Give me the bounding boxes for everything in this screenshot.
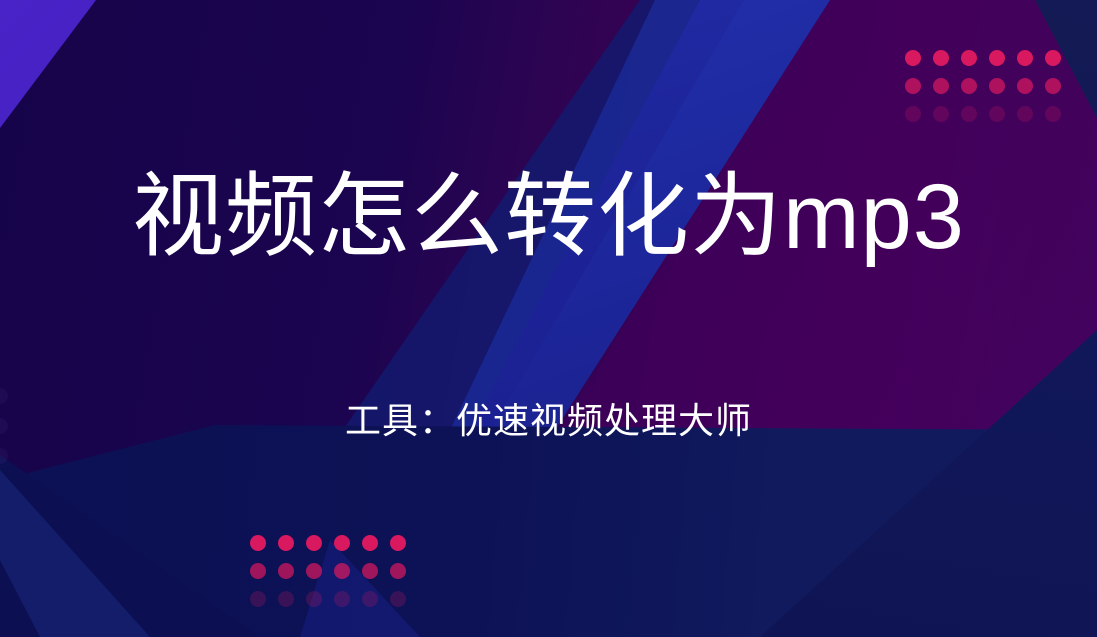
dot bbox=[1017, 106, 1033, 122]
dot bbox=[390, 535, 406, 551]
dot bbox=[306, 563, 322, 579]
dot bbox=[306, 591, 322, 607]
slide-subtitle: 工具：优速视频处理大师 bbox=[0, 398, 1097, 445]
dot bbox=[1017, 50, 1033, 66]
dot bbox=[1045, 78, 1061, 94]
dot bbox=[905, 78, 921, 94]
dot bbox=[1017, 78, 1033, 94]
dot bbox=[362, 535, 378, 551]
dot bbox=[933, 78, 949, 94]
dot-grid-top-right bbox=[905, 50, 1061, 122]
dot bbox=[961, 106, 977, 122]
slide-title: 视频怎么转化为mp3 bbox=[0, 168, 1097, 267]
dot bbox=[961, 50, 977, 66]
dot bbox=[0, 448, 8, 464]
dot bbox=[278, 563, 294, 579]
dot-grid-bottom-left bbox=[250, 535, 406, 607]
dot bbox=[390, 563, 406, 579]
dot bbox=[390, 591, 406, 607]
presentation-slide: 视频怎么转化为mp3 工具：优速视频处理大师 bbox=[0, 0, 1097, 637]
dot bbox=[933, 106, 949, 122]
dot bbox=[1045, 106, 1061, 122]
dot bbox=[989, 50, 1005, 66]
dot bbox=[989, 106, 1005, 122]
dot bbox=[278, 535, 294, 551]
dot bbox=[933, 50, 949, 66]
dot bbox=[250, 535, 266, 551]
dot bbox=[362, 591, 378, 607]
dot bbox=[362, 563, 378, 579]
dot bbox=[278, 591, 294, 607]
dot bbox=[905, 50, 921, 66]
dot bbox=[250, 563, 266, 579]
dot bbox=[250, 591, 266, 607]
dot bbox=[306, 535, 322, 551]
dot bbox=[334, 535, 350, 551]
dot bbox=[961, 78, 977, 94]
dot bbox=[1045, 50, 1061, 66]
dot bbox=[334, 563, 350, 579]
dot bbox=[989, 78, 1005, 94]
dot bbox=[334, 591, 350, 607]
dot bbox=[905, 106, 921, 122]
